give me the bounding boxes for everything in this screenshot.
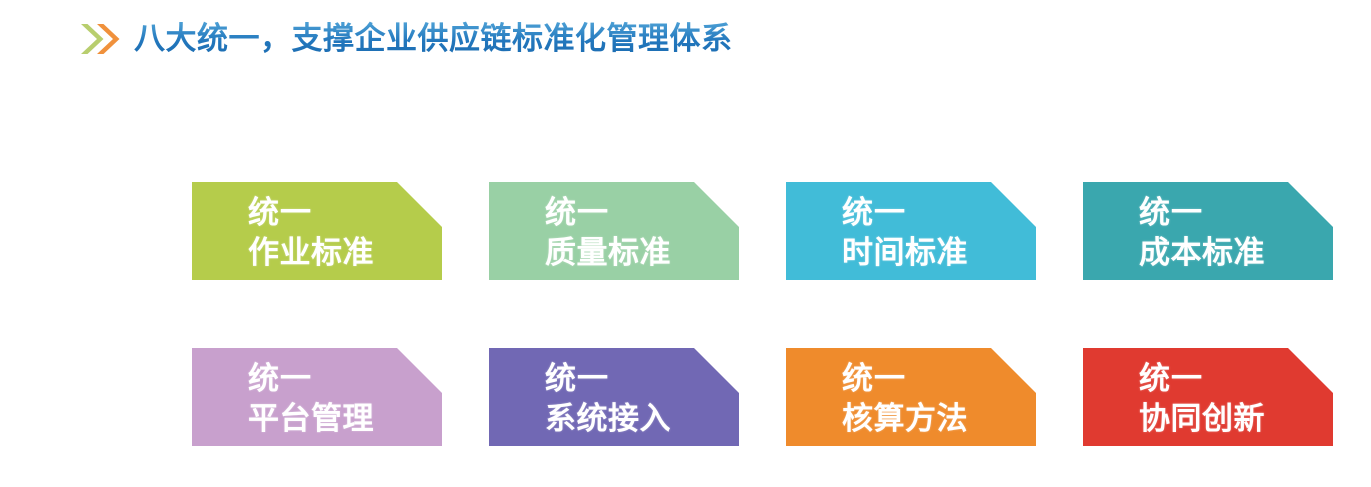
card-line-primary: 统一 xyxy=(545,359,739,399)
card-system-access[interactable]: 统一系统接入 xyxy=(489,348,739,446)
card-cost-standard[interactable]: 统一成本标准 xyxy=(1083,182,1333,280)
unified-standards-card-grid: 统一作业标准统一质量标准统一时间标准统一成本标准统一平台管理统一系统接入统一核算… xyxy=(192,182,1334,446)
card-accounting-method[interactable]: 统一核算方法 xyxy=(786,348,1036,446)
card-quality-standard[interactable]: 统一质量标准 xyxy=(489,182,739,280)
card-line-primary: 统一 xyxy=(1139,359,1333,399)
card-line-primary: 统一 xyxy=(248,359,442,399)
slide-title-row: 八大统一，支撑企业供应链标准化管理体系 xyxy=(78,18,733,60)
card-work-standard[interactable]: 统一作业标准 xyxy=(192,182,442,280)
card-line-secondary: 平台管理 xyxy=(248,399,442,439)
card-line-secondary: 成本标准 xyxy=(1139,233,1333,273)
card-line-primary: 统一 xyxy=(842,359,1036,399)
card-time-standard[interactable]: 统一时间标准 xyxy=(786,182,1036,280)
card-line-secondary: 系统接入 xyxy=(545,399,739,439)
double-chevron-icon xyxy=(78,19,122,59)
card-line-secondary: 核算方法 xyxy=(842,399,1036,439)
card-line-primary: 统一 xyxy=(248,193,442,233)
page-title: 八大统一，支撑企业供应链标准化管理体系 xyxy=(134,18,733,60)
card-line-primary: 统一 xyxy=(545,193,739,233)
card-line-secondary: 质量标准 xyxy=(545,233,739,273)
card-platform-management[interactable]: 统一平台管理 xyxy=(192,348,442,446)
card-line-primary: 统一 xyxy=(842,193,1036,233)
card-line-secondary: 时间标准 xyxy=(842,233,1036,273)
card-line-primary: 统一 xyxy=(1139,193,1333,233)
card-line-secondary: 协同创新 xyxy=(1139,399,1333,439)
card-collaborative-innovation[interactable]: 统一协同创新 xyxy=(1083,348,1333,446)
card-line-secondary: 作业标准 xyxy=(248,233,442,273)
